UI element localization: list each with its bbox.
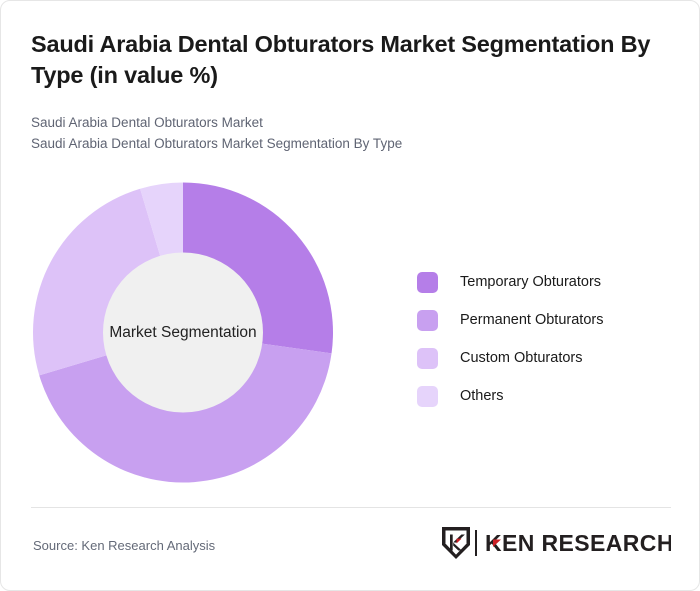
legend-label: Permanent Obturators [460,312,603,328]
legend-item[interactable]: Temporary Obturators [417,263,667,301]
page-title: Saudi Arabia Dental Obturators Market Se… [31,29,671,92]
legend-swatch [417,272,438,293]
shield-logo-icon [440,525,472,561]
ken-research-logo: KEN RESEARCH [440,525,671,561]
legend-label: Temporary Obturators [460,274,601,290]
logo-wordmark-text: KEN RESEARCH [485,530,671,556]
subtitle-line-2: Saudi Arabia Dental Obturators Market Se… [31,134,651,155]
chart-legend: Temporary ObturatorsPermanent Obturators… [417,263,667,415]
legend-swatch [417,310,438,331]
legend-label: Custom Obturators [460,350,583,366]
donut-chart: Temporary Obturators 27.2%Permanent Obtu… [32,181,334,484]
footer-divider [31,507,671,508]
subtitle-line-1: Saudi Arabia Dental Obturators Market [31,113,651,134]
donut-chart-svg: Temporary Obturators 27.2%Permanent Obtu… [32,181,334,484]
legend-item[interactable]: Custom Obturators [417,339,667,377]
chart-subtitle: Saudi Arabia Dental Obturators Market Sa… [31,113,651,155]
source-note: Source: Ken Research Analysis [33,538,215,553]
legend-item[interactable]: Others [417,377,667,415]
ken-research-wordmark: KEN RESEARCH [475,528,671,558]
legend-label: Others [460,388,504,404]
legend-swatch [417,386,438,407]
legend-swatch [417,348,438,369]
chart-card: Saudi Arabia Dental Obturators Market Se… [0,0,700,591]
donut-hole [103,253,263,413]
legend-item[interactable]: Permanent Obturators [417,301,667,339]
